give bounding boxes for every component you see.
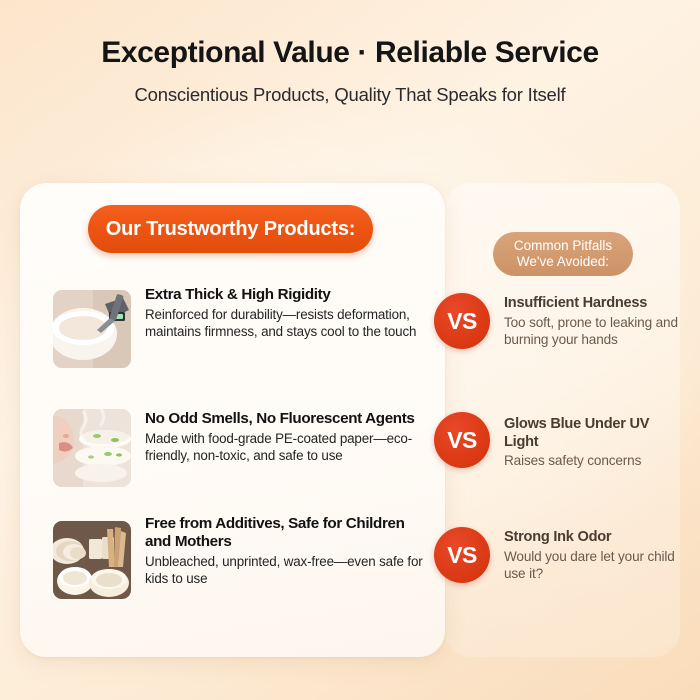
vs-label: VS bbox=[447, 544, 476, 567]
pro-text-block: No Odd Smells, No Fluorescent Agents Mad… bbox=[145, 410, 428, 465]
pro-title: No Odd Smells, No Fluorescent Agents bbox=[145, 410, 428, 428]
pro-title: Free from Additives, Safe for Children a… bbox=[145, 515, 428, 551]
comparison-row: Extra Thick & High Rigidity Reinforced f… bbox=[20, 286, 680, 394]
con-description: Would you dare let your child use it? bbox=[504, 548, 682, 582]
common-pitfalls-badge-line2: We've Avoided: bbox=[517, 254, 609, 270]
vs-badge: VS bbox=[434, 527, 490, 583]
con-description: Too soft, prone to leaking and burning y… bbox=[504, 314, 682, 348]
page-subtitle: Conscientious Products, Quality That Spe… bbox=[0, 84, 700, 106]
vs-label: VS bbox=[447, 310, 476, 333]
pro-description: Reinforced for durability—resists deform… bbox=[145, 306, 428, 341]
con-text-block: Glows Blue Under UV Light Raises safety … bbox=[504, 416, 682, 469]
con-description: Raises safety concerns bbox=[504, 452, 682, 469]
vs-label: VS bbox=[447, 429, 476, 452]
bowl-caliper-measurement-photo bbox=[53, 290, 131, 368]
comparison-row: Free from Additives, Safe for Children a… bbox=[20, 515, 680, 623]
pro-description: Made with food-grade PE-coated paper—eco… bbox=[145, 430, 428, 465]
pro-description: Unbleached, unprinted, wax-free—even saf… bbox=[145, 553, 428, 588]
page-title: Exceptional Value · Reliable Service bbox=[0, 36, 700, 71]
common-pitfalls-badge-line1: Common Pitfalls bbox=[514, 238, 612, 254]
trustworthy-products-badge: Our Trustworthy Products: bbox=[88, 205, 373, 253]
pro-text-block: Free from Additives, Safe for Children a… bbox=[145, 515, 428, 588]
con-title: Glows Blue Under UV Light bbox=[504, 416, 682, 451]
con-text-block: Insufficient Hardness Too soft, prone to… bbox=[504, 295, 682, 348]
common-pitfalls-badge: Common Pitfalls We've Avoided: bbox=[493, 232, 633, 276]
pro-text-block: Extra Thick & High Rigidity Reinforced f… bbox=[145, 286, 428, 341]
trustworthy-products-badge-label: Our Trustworthy Products: bbox=[106, 218, 355, 241]
person-smelling-steaming-bowl-photo bbox=[53, 409, 131, 487]
comparison-row: No Odd Smells, No Fluorescent Agents Mad… bbox=[20, 405, 680, 513]
vs-badge: VS bbox=[434, 412, 490, 468]
bowls-cups-chopsticks-set-photo bbox=[53, 521, 131, 599]
vs-badge: VS bbox=[434, 293, 490, 349]
con-title: Insufficient Hardness bbox=[504, 295, 682, 313]
con-text-block: Strong Ink Odor Would you dare let your … bbox=[504, 529, 682, 582]
page-header: Exceptional Value · Reliable Service Con… bbox=[0, 0, 700, 106]
pro-title: Extra Thick & High Rigidity bbox=[145, 286, 428, 304]
con-title: Strong Ink Odor bbox=[504, 529, 682, 547]
